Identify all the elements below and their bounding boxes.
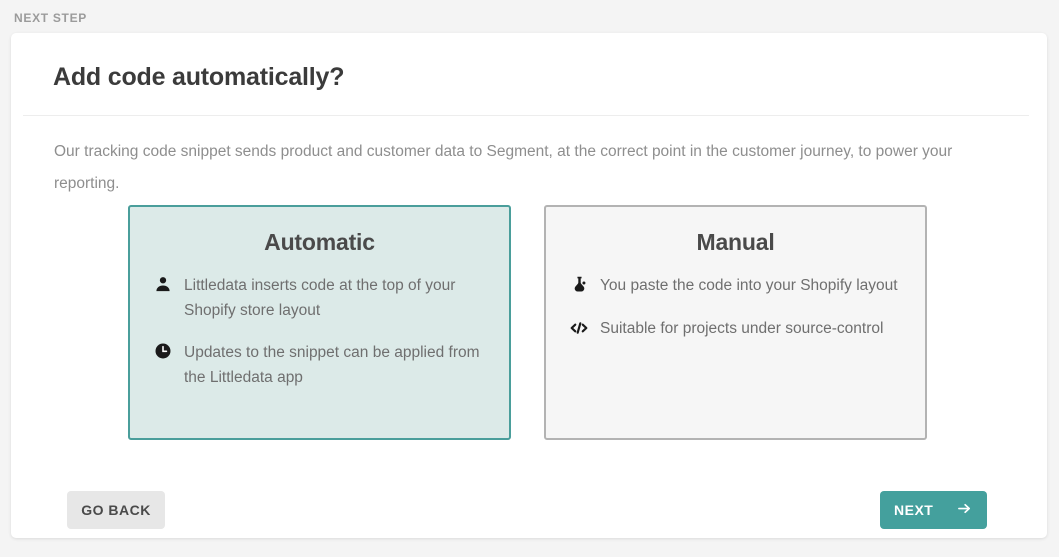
page-title: Add code automatically? [53, 63, 344, 92]
feature-text: Updates to the snippet can be applied fr… [184, 340, 487, 390]
clock-icon [152, 340, 174, 366]
card-title-manual: Manual [568, 229, 903, 256]
feature-item: Suitable for projects under source-contr… [568, 316, 903, 342]
option-card-manual[interactable]: Manual You paste the code into your Shop… [544, 205, 927, 440]
flask-icon [568, 273, 590, 299]
title-divider [23, 115, 1029, 116]
feature-item: Littledata inserts code at the top of yo… [152, 273, 487, 323]
option-card-automatic[interactable]: Automatic Littledata inserts code at the… [128, 205, 511, 440]
next-button-label: NEXT [894, 502, 933, 518]
feature-item: Updates to the snippet can be applied fr… [152, 340, 487, 390]
code-icon [568, 316, 590, 342]
feature-text: You paste the code into your Shopify lay… [600, 273, 898, 298]
card-title-automatic: Automatic [152, 229, 487, 256]
onboarding-panel: Add code automatically? Our tracking cod… [11, 33, 1047, 538]
arrow-right-icon [956, 501, 973, 519]
go-back-button[interactable]: GO BACK [67, 491, 165, 529]
next-button[interactable]: NEXT [880, 491, 987, 529]
feature-text: Littledata inserts code at the top of yo… [184, 273, 487, 323]
option-cards: Automatic Littledata inserts code at the… [128, 205, 928, 440]
panel-footer: GO BACK NEXT [11, 474, 1047, 538]
person-icon [152, 273, 174, 299]
feature-item: You paste the code into your Shopify lay… [568, 273, 903, 299]
next-step-label: NEXT STEP [14, 11, 87, 25]
intro-paragraph: Our tracking code snippet sends product … [54, 136, 964, 200]
feature-text: Suitable for projects under source-contr… [600, 316, 883, 341]
